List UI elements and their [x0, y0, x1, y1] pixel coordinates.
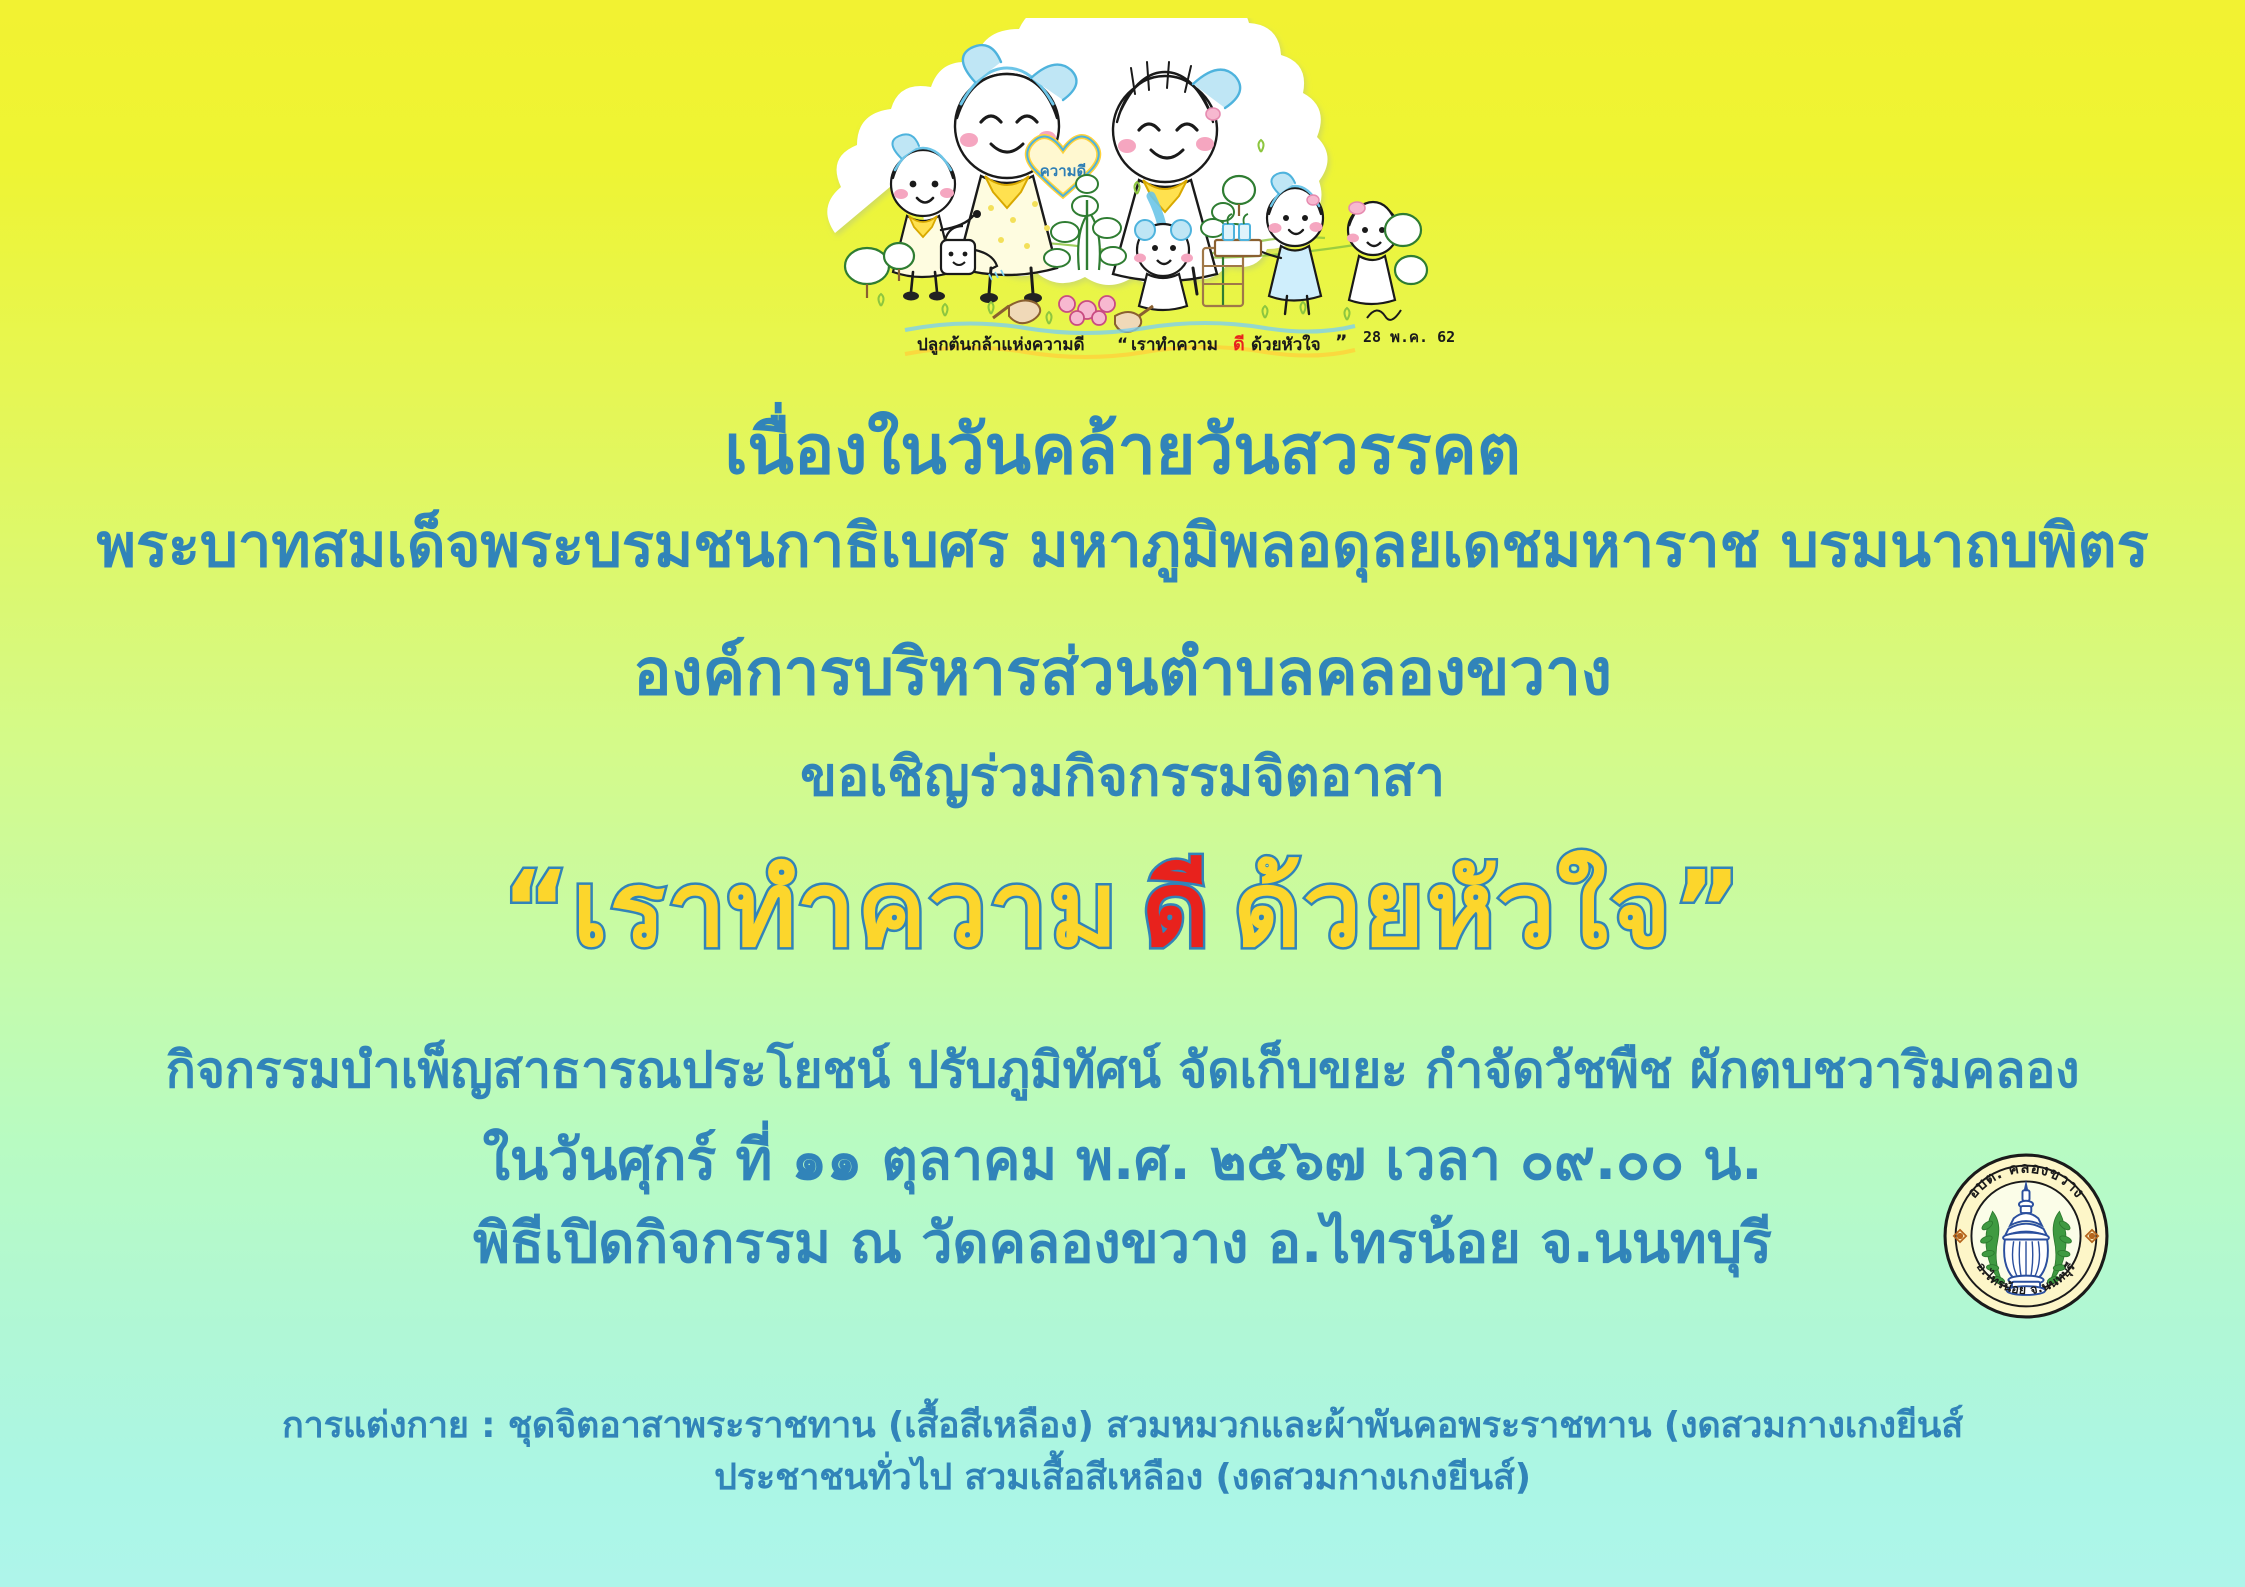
signature-mark: [1367, 310, 1401, 320]
illustration-caption-quote-open: “: [1117, 335, 1128, 355]
dress-code-line-1: การแต่งกาย : ชุดจิตอาสาพระราชทาน (เสื้อส…: [0, 1400, 2245, 1452]
heading-line-2: พระบาทสมเด็จพระบรมชนกาธิเบศร มหาภูมิพลอด…: [0, 505, 2245, 587]
poster-canvas: ความดี: [0, 0, 2245, 1587]
slogan-accent-word: ดี: [1142, 848, 1212, 970]
slogan-quote-open: “: [502, 848, 572, 970]
activity-description: กิจกรรมบำเพ็ญสาธารณประโยชน์ ปรับภูมิทัศน…: [0, 1035, 2245, 1105]
slogan-part-1: เราทำความ: [572, 848, 1120, 970]
heading-line-3-organization: องค์การบริหารส่วนตำบลคลองขวาง: [0, 630, 2245, 716]
character-plush-center: [1134, 220, 1193, 310]
event-date-time: ในวันศุกร์ ที่ ๑๑ ตุลาคม พ.ศ. ๒๕๖๗ เวลา …: [0, 1122, 2245, 1200]
slogan-quote-close: ”: [1673, 848, 1743, 970]
heading-line-1: เนื่องในวันคล้ายวันสวรรคต: [0, 405, 2245, 497]
dress-code-line-2: ประชาชนทั่วไป สวมเสื้อสีเหลือง (งดสวมกาง…: [0, 1452, 2245, 1504]
illustration-caption-accent: ดี: [1233, 334, 1245, 355]
heading-line-4-invitation: ขอเชิญร่วมกิจกรรมจิตอาสา: [0, 740, 2245, 814]
illustration-caption-part2: เราทำความ: [1131, 335, 1218, 355]
flowers-base: [1059, 296, 1115, 325]
signature-date: 28 พ.ค. 62: [1363, 328, 1455, 346]
volunteer-illustration-sticker: ความดี: [795, 18, 1455, 363]
illustration-caption-part3: ด้วยหัวใจ: [1251, 334, 1321, 355]
main-slogan: “เราทำความดีด้วยหัวใจ”: [0, 845, 2245, 973]
illustration-caption-quote-close: ”: [1335, 331, 1348, 353]
event-venue: พิธีเปิดกิจกรรม ณ วัดคลองขวาง อ.ไทรน้อย …: [0, 1205, 2245, 1283]
illustration-caption-part1: ปลูกต้นกล้าแห่งความดี: [917, 334, 1085, 356]
official-seal-logo: อบต. คลองขวาง อ.ไทรน้อย จ.นนทบุรี: [1938, 1148, 2114, 1324]
slogan-part-2: ด้วยหัวใจ: [1233, 848, 1673, 970]
